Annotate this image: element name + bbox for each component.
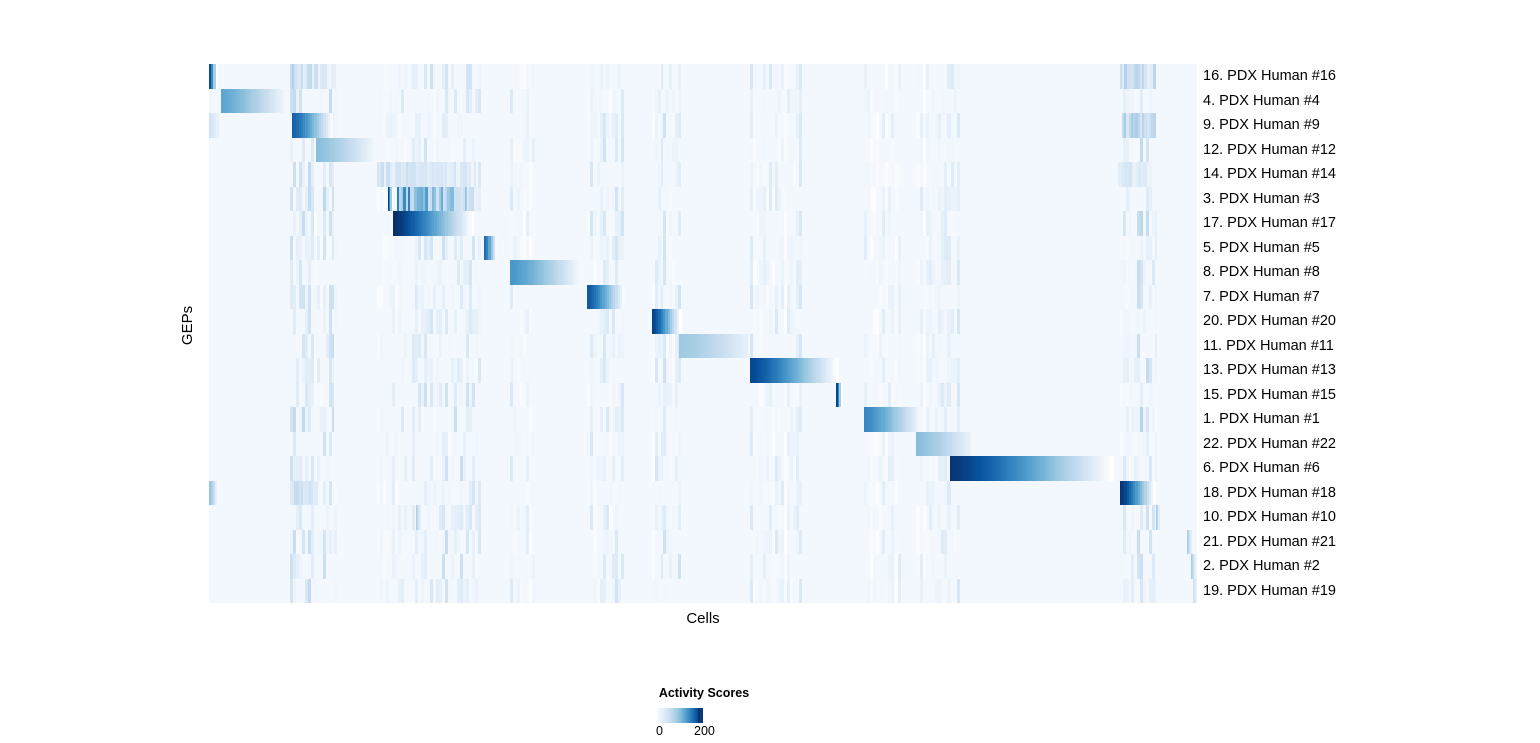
heatmap-cell	[597, 162, 600, 187]
heatmap-cell	[401, 530, 404, 555]
heatmap-cell	[938, 285, 941, 310]
heatmap-cell	[442, 505, 445, 530]
heatmap-cell	[938, 505, 941, 530]
row-label-7: 17. PDX Human #17	[1203, 211, 1336, 236]
heatmap-cell	[1126, 138, 1129, 163]
heatmap-cell	[1137, 456, 1140, 481]
heatmap-cell	[957, 187, 960, 212]
heatmap-cell	[609, 432, 612, 457]
x-axis-title: Cells	[209, 610, 1197, 627]
heatmap-cell	[669, 64, 672, 89]
heatmap-cell	[621, 309, 624, 334]
heatmap-cell	[951, 309, 954, 334]
heatmap-cell	[790, 211, 793, 236]
heatmap-cell	[750, 236, 753, 261]
heatmap-cell	[433, 113, 436, 138]
heatmap-cell	[293, 211, 296, 236]
heatmap-cell	[658, 236, 661, 261]
heatmap-cell	[957, 113, 960, 138]
row-label-2: 4. PDX Human #4	[1203, 89, 1320, 114]
heatmap-cell	[424, 554, 427, 579]
heatmap-cell	[469, 260, 472, 285]
heatmap-cell	[612, 309, 615, 334]
heatmap-cell	[678, 64, 681, 89]
heatmap-cell	[663, 113, 666, 138]
heatmap-cell	[436, 89, 439, 114]
heatmap-cell	[759, 579, 762, 604]
heatmap-cell	[593, 334, 596, 359]
heatmap-cell	[879, 334, 882, 359]
heatmap-cell	[898, 162, 901, 187]
heatmap-cell	[305, 211, 308, 236]
heatmap-cell	[305, 334, 308, 359]
heatmap-cell	[923, 554, 926, 579]
heatmap-cell	[513, 64, 516, 89]
row-label-5: 14. PDX Human #14	[1203, 162, 1336, 187]
heatmap-cell	[793, 89, 796, 114]
heatmap-cell	[590, 358, 593, 383]
heatmap-cell	[870, 138, 873, 163]
heatmap-cell	[513, 407, 516, 432]
heatmap-plot-area[interactable]	[209, 64, 1197, 603]
heatmap-cell	[314, 407, 317, 432]
heatmap-cell	[898, 285, 901, 310]
heatmap-cell	[317, 211, 320, 236]
heatmap-cell	[1155, 89, 1158, 114]
heatmap-row	[209, 334, 1197, 359]
heatmap-cell	[867, 162, 870, 187]
heatmap-cell	[621, 456, 624, 481]
heatmap-cell	[401, 236, 404, 261]
heatmap-cell	[606, 260, 609, 285]
heatmap-row	[209, 187, 1197, 212]
heatmap-cell	[326, 187, 329, 212]
heatmap-cell	[1129, 530, 1132, 555]
heatmap-cell	[472, 530, 475, 555]
heatmap-cell	[876, 113, 879, 138]
heatmap-cell	[787, 187, 790, 212]
heatmap-cell	[469, 89, 472, 114]
heatmap-cell	[796, 432, 799, 457]
heatmap-cell	[380, 285, 383, 310]
heatmap-cell	[970, 432, 973, 457]
heatmap-cell	[606, 187, 609, 212]
heatmap-cell	[451, 456, 454, 481]
heatmap-cell	[609, 505, 612, 530]
heatmap-cell	[1153, 113, 1156, 138]
heatmap-cell	[472, 187, 475, 212]
colorbar-tick-mark	[698, 708, 700, 723]
heatmap-cell	[469, 64, 472, 89]
heatmap-cell	[398, 432, 401, 457]
heatmap-cell	[436, 285, 439, 310]
heatmap-cell	[957, 579, 960, 604]
heatmap-cell	[898, 334, 901, 359]
heatmap-cell	[609, 211, 612, 236]
heatmap-cell	[418, 138, 421, 163]
heatmap-cell	[332, 358, 335, 383]
heatmap-cell	[1158, 505, 1160, 530]
heatmap-cell	[386, 432, 389, 457]
heatmap-cell	[947, 530, 950, 555]
heatmap-cell	[756, 89, 759, 114]
heatmap-cell	[787, 554, 790, 579]
colorbar-tick-min: 0	[656, 724, 663, 738]
heatmap-cell	[1147, 162, 1150, 187]
heatmap-cell	[750, 89, 753, 114]
heatmap-cell	[334, 236, 337, 261]
heatmap-cell	[929, 211, 932, 236]
heatmap-cell	[510, 187, 513, 212]
heatmap-cell	[879, 162, 882, 187]
heatmap-cell	[870, 481, 873, 506]
heatmap-cell	[790, 407, 793, 432]
heatmap-cell	[523, 187, 526, 212]
heatmap-cell	[421, 407, 424, 432]
heatmap-cell	[947, 236, 950, 261]
row-label-14: 15. PDX Human #15	[1203, 383, 1336, 408]
heatmap-cell	[478, 285, 481, 310]
heatmap-cell	[529, 530, 532, 555]
heatmap-cell	[510, 211, 513, 236]
heatmap-cell	[395, 89, 398, 114]
heatmap-cell	[1153, 64, 1156, 89]
heatmap-cell	[898, 260, 901, 285]
heatmap-cell	[898, 211, 901, 236]
heatmap-cell	[427, 505, 430, 530]
heatmap-cell	[520, 162, 523, 187]
heatmap-cell	[293, 309, 296, 334]
heatmap-cell	[661, 554, 664, 579]
heatmap-cell	[932, 260, 935, 285]
heatmap-cell	[460, 554, 463, 579]
heatmap-cell	[517, 505, 520, 530]
heatmap-cell	[412, 432, 415, 457]
heatmap-cell	[885, 481, 888, 506]
heatmap-cell	[864, 481, 867, 506]
heatmap-cell	[293, 432, 296, 457]
heatmap-cell	[532, 211, 535, 236]
heatmap-cell	[932, 505, 935, 530]
heatmap-cell	[299, 187, 302, 212]
heatmap-cell	[1140, 138, 1143, 163]
heatmap-cell	[316, 481, 319, 506]
heatmap-cell	[621, 89, 624, 114]
heatmap-cell	[1129, 432, 1132, 457]
heatmap-cell	[329, 530, 332, 555]
heatmap-cell	[398, 285, 401, 310]
heatmap-cell	[424, 138, 427, 163]
heatmap-cell	[532, 554, 535, 579]
heatmap-cell	[290, 236, 293, 261]
heatmap-cell	[510, 89, 513, 114]
heatmap-row	[209, 407, 1197, 432]
heatmap-cell	[404, 456, 407, 481]
heatmap-cell	[448, 579, 451, 604]
heatmap-cell	[317, 358, 320, 383]
heatmap-cell	[606, 64, 609, 89]
heatmap-cell	[532, 138, 535, 163]
heatmap-cell	[472, 236, 475, 261]
heatmap-cell	[898, 358, 901, 383]
heatmap-cell	[1129, 187, 1132, 212]
heatmap-cell	[1143, 554, 1146, 579]
heatmap-cell	[1134, 89, 1137, 114]
heatmap-cell	[772, 579, 775, 604]
heatmap-cell	[759, 309, 762, 334]
heatmap-cell	[621, 432, 624, 457]
heatmap-cell	[520, 579, 523, 604]
heatmap-figure: GEPs Cells 16. PDX Human #164. PDX Human…	[0, 0, 1540, 743]
heatmap-cell	[532, 456, 535, 481]
heatmap-cell	[750, 334, 753, 359]
heatmap-cell	[513, 530, 516, 555]
heatmap-cell	[954, 530, 957, 555]
heatmap-cell	[334, 89, 337, 114]
heatmap-cell	[590, 407, 593, 432]
heatmap-row	[209, 64, 1197, 89]
heatmap-cell	[439, 579, 442, 604]
heatmap-cell	[1146, 432, 1149, 457]
heatmap-cell	[603, 211, 606, 236]
heatmap-cell	[891, 505, 894, 530]
heatmap-cell	[329, 432, 332, 457]
heatmap-cell	[672, 187, 675, 212]
heatmap-cell	[314, 554, 317, 579]
heatmap-cell	[678, 432, 681, 457]
heatmap-cell	[944, 211, 947, 236]
heatmap-cell	[424, 530, 427, 555]
heatmap-cell	[296, 358, 299, 383]
heatmap-cell	[1134, 138, 1137, 163]
heatmap-cell	[898, 554, 901, 579]
heatmap-cell	[466, 358, 469, 383]
heatmap-cell	[398, 309, 401, 334]
heatmap-cell	[888, 211, 891, 236]
heatmap-cell	[436, 554, 439, 579]
heatmap-cell	[663, 260, 666, 285]
heatmap-cell	[469, 505, 472, 530]
heatmap-cell	[864, 260, 867, 285]
heatmap-cell	[652, 530, 655, 555]
heatmap-cell	[333, 64, 336, 89]
heatmap-cell	[329, 481, 332, 506]
heatmap-cell	[460, 383, 463, 408]
heatmap-cell	[1155, 211, 1158, 236]
heatmap-cell	[299, 505, 302, 530]
heatmap-cell	[920, 187, 923, 212]
heatmap-cell	[386, 530, 389, 555]
heatmap-cell	[926, 113, 929, 138]
heatmap-cell	[793, 554, 796, 579]
heatmap-cell	[532, 236, 535, 261]
heatmap-cell	[445, 64, 448, 89]
heatmap-cell	[401, 358, 404, 383]
heatmap-cell	[523, 432, 526, 457]
heatmap-row	[209, 579, 1197, 604]
heatmap-cell	[947, 383, 950, 408]
heatmap-cell	[944, 554, 947, 579]
heatmap-cell	[1140, 236, 1143, 261]
heatmap-cell	[433, 481, 436, 506]
heatmap-cell	[436, 530, 439, 555]
heatmap-cell	[799, 481, 802, 506]
heatmap-cell	[669, 554, 672, 579]
heatmap-cell	[1131, 260, 1134, 285]
heatmap-cell	[593, 113, 596, 138]
heatmap-cell	[790, 64, 793, 89]
heatmap-cell	[790, 481, 793, 506]
heatmap-cell	[1129, 211, 1132, 236]
heatmap-cell	[517, 432, 520, 457]
heatmap-cell	[799, 579, 802, 604]
heatmap-cell	[377, 358, 380, 383]
heatmap-cell	[593, 432, 596, 457]
heatmap-cell	[898, 579, 901, 604]
heatmap-row	[209, 309, 1197, 334]
heatmap-cell	[799, 285, 802, 310]
heatmap-cell	[753, 579, 756, 604]
heatmap-cell	[587, 187, 590, 212]
heatmap-cell	[526, 113, 529, 138]
heatmap-cell	[600, 407, 603, 432]
heatmap-cell	[603, 456, 606, 481]
heatmap-cell	[750, 554, 753, 579]
heatmap-cell	[756, 138, 759, 163]
heatmap-cell	[876, 89, 879, 114]
heatmap-cell	[873, 187, 876, 212]
heatmap-cell	[951, 162, 954, 187]
heatmap-cell	[870, 530, 873, 555]
heatmap-cell	[923, 89, 926, 114]
heatmap-cell	[621, 334, 624, 359]
heatmap-cell	[867, 113, 870, 138]
heatmap-cell	[932, 187, 935, 212]
heatmap-cell	[1129, 334, 1132, 359]
heatmap-cell	[1190, 530, 1192, 555]
heatmap-cell	[957, 505, 960, 530]
heatmap-cell	[935, 358, 938, 383]
heatmap-cell	[793, 383, 796, 408]
heatmap-cell	[526, 383, 529, 408]
heatmap-cell	[430, 579, 433, 604]
heatmap-cell	[1126, 309, 1129, 334]
row-label-16: 22. PDX Human #22	[1203, 432, 1336, 457]
heatmap-cell	[332, 187, 335, 212]
heatmap-cell	[323, 211, 326, 236]
heatmap-cell	[923, 505, 926, 530]
heatmap-cell	[957, 285, 960, 310]
heatmap-row	[209, 285, 1197, 310]
heatmap-cell	[302, 138, 305, 163]
heatmap-cell	[799, 113, 802, 138]
heatmap-cell	[314, 260, 317, 285]
heatmap-cell	[383, 554, 386, 579]
heatmap-cell	[1152, 554, 1155, 579]
heatmap-cell	[778, 505, 781, 530]
heatmap-cell	[293, 285, 296, 310]
heatmap-cell	[938, 138, 941, 163]
heatmap-cell	[655, 407, 658, 432]
heatmap-cell	[1134, 579, 1137, 604]
heatmap-cell	[478, 358, 481, 383]
heatmap-cell	[759, 456, 762, 481]
heatmap-cell	[609, 530, 612, 555]
heatmap-cell	[753, 309, 756, 334]
heatmap-cell	[593, 530, 596, 555]
heatmap-cell	[334, 407, 337, 432]
row-label-8: 5. PDX Human #5	[1203, 236, 1320, 261]
heatmap-cell	[308, 285, 311, 310]
heatmap-cell	[448, 113, 451, 138]
heatmap-cell	[323, 309, 326, 334]
heatmap-cell	[296, 383, 299, 408]
heatmap-cell	[666, 432, 669, 457]
heatmap-cell	[389, 358, 392, 383]
heatmap-cell	[938, 334, 941, 359]
heatmap-cell	[1155, 530, 1158, 555]
heatmap-cell	[793, 162, 796, 187]
heatmap-cell	[796, 187, 799, 212]
heatmap-cell	[888, 162, 891, 187]
heatmap-cell	[308, 579, 311, 604]
heatmap-cell	[415, 358, 418, 383]
row-label-13: 13. PDX Human #13	[1203, 358, 1336, 383]
heatmap-cell	[618, 260, 621, 285]
heatmap-cell	[784, 211, 787, 236]
heatmap-cell	[445, 383, 448, 408]
heatmap-cell	[935, 162, 938, 187]
heatmap-cell	[463, 456, 466, 481]
heatmap-cell	[334, 481, 337, 506]
heatmap-cell	[308, 407, 311, 432]
heatmap-cell	[1153, 481, 1156, 506]
heatmap-cell	[947, 113, 950, 138]
heatmap-cell	[314, 309, 317, 334]
heatmap-cell	[891, 432, 894, 457]
heatmap-cell	[763, 554, 766, 579]
heatmap-cell	[775, 162, 778, 187]
heatmap-cell	[658, 358, 661, 383]
heatmap-cell	[475, 260, 478, 285]
x-axis-title-label: Cells	[686, 610, 719, 627]
heatmap-cell	[864, 236, 867, 261]
heatmap-cell	[879, 383, 882, 408]
heatmap-cell	[475, 407, 478, 432]
heatmap-cell	[621, 383, 624, 408]
heatmap-cell	[593, 505, 596, 530]
heatmap-cell	[290, 138, 293, 163]
heatmap-cell	[678, 358, 681, 383]
heatmap-cell	[1137, 358, 1140, 383]
heatmap-cell	[669, 579, 672, 604]
heatmap-cell	[778, 407, 781, 432]
heatmap-cell	[1111, 456, 1114, 481]
heatmap-cell	[383, 456, 386, 481]
heatmap-cell	[523, 334, 526, 359]
heatmap-cell	[941, 309, 944, 334]
heatmap-cell	[466, 530, 469, 555]
heatmap-cell	[895, 456, 898, 481]
row-label-17: 6. PDX Human #6	[1203, 456, 1320, 481]
heatmap-cell	[612, 383, 615, 408]
heatmap-cell	[678, 481, 681, 506]
heatmap-cell	[778, 456, 781, 481]
heatmap-cell	[947, 481, 950, 506]
heatmap-cell	[1149, 530, 1152, 555]
heatmap-cell	[380, 334, 383, 359]
heatmap-cell	[421, 579, 424, 604]
